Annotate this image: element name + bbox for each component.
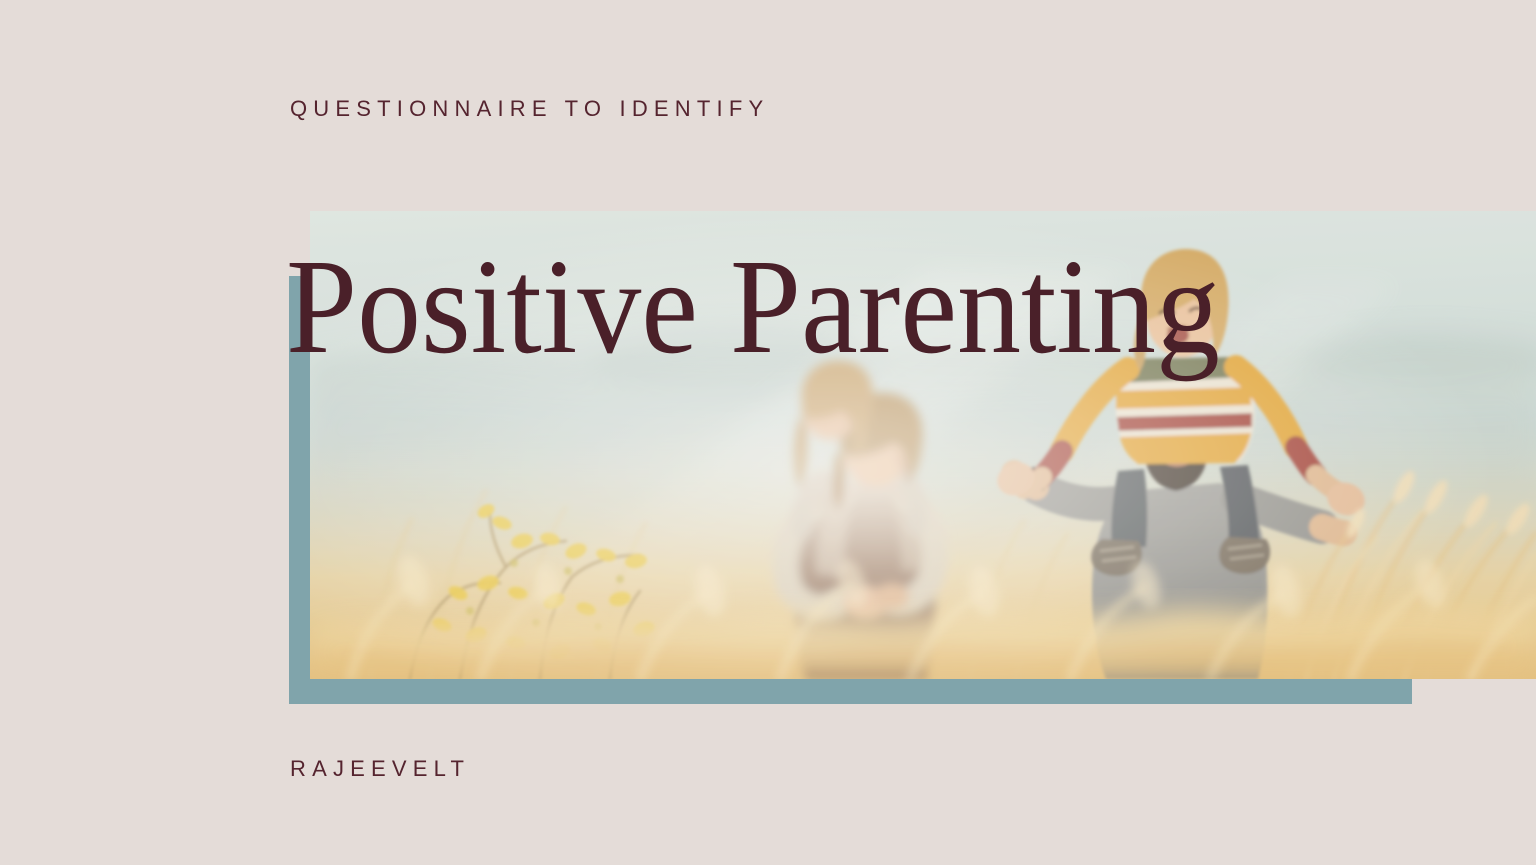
footer-brand: RAJEEVELT [290, 756, 470, 782]
page-title: Positive Parenting [286, 239, 1220, 375]
presentation-slide: QUESTIONNAIRE TO IDENTIFY Positive Paren… [0, 0, 1536, 865]
eyebrow-text: QUESTIONNAIRE TO IDENTIFY [290, 96, 769, 122]
